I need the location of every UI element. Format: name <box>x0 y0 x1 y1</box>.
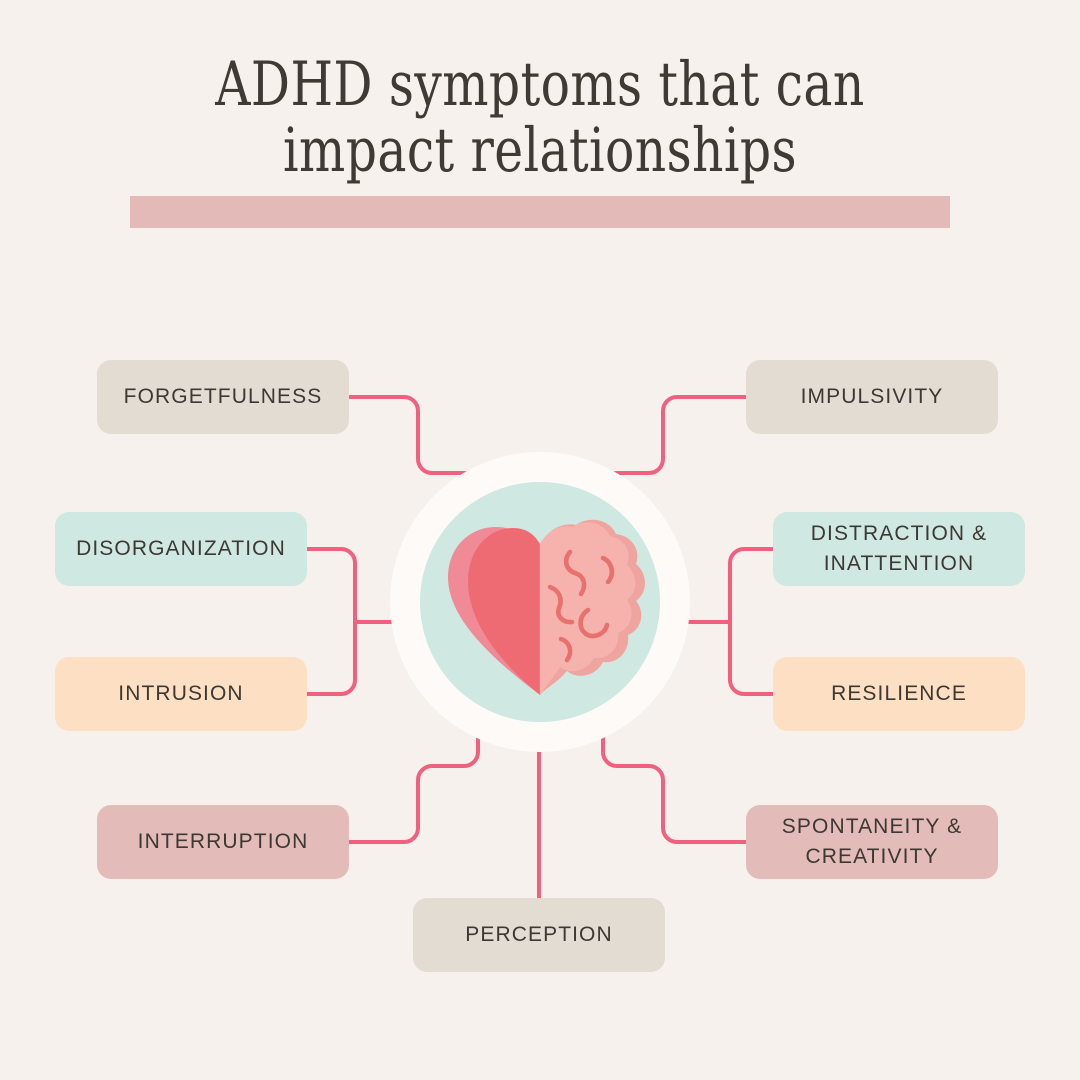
node-distraction-inattention[interactable]: DISTRACTION & INATTENTION <box>773 512 1025 586</box>
node-label-impulsivity: IMPULSIVITY <box>801 382 944 412</box>
node-label-disorganization: DISORGANIZATION <box>76 534 286 564</box>
node-label-distraction-inattention: DISTRACTION & INATTENTION <box>811 519 987 579</box>
brain-half <box>540 520 645 695</box>
node-label-spontaneity-creativity: SPONTANEITY & CREATIVITY <box>782 812 962 872</box>
node-label-intrusion: INTRUSION <box>118 679 243 709</box>
node-interruption[interactable]: INTERRUPTION <box>97 805 349 879</box>
node-label-interruption: INTERRUPTION <box>138 827 309 857</box>
connector-intrusion <box>307 622 355 694</box>
heart-body <box>468 528 540 695</box>
node-intrusion[interactable]: INTRUSION <box>55 657 307 731</box>
node-label-perception: PERCEPTION <box>465 920 613 950</box>
node-disorganization[interactable]: DISORGANIZATION <box>55 512 307 586</box>
infographic-canvas: ADHD symptoms that can impact relationsh… <box>0 0 1080 1080</box>
node-perception[interactable]: PERCEPTION <box>413 898 665 972</box>
node-resilience[interactable]: RESILIENCE <box>773 657 1025 731</box>
node-forgetfulness[interactable]: FORGETFULNESS <box>97 360 349 434</box>
node-label-resilience: RESILIENCE <box>831 679 967 709</box>
heart-brain-icon <box>420 482 660 722</box>
connector-resilience <box>730 622 773 694</box>
connector-distraction <box>730 549 773 622</box>
node-spontaneity-creativity[interactable]: SPONTANEITY & CREATIVITY <box>746 805 998 879</box>
node-impulsivity[interactable]: IMPULSIVITY <box>746 360 998 434</box>
node-label-forgetfulness: FORGETFULNESS <box>124 382 323 412</box>
connector-disorganization <box>307 549 355 622</box>
center-emblem <box>390 452 690 752</box>
heart-half <box>448 527 540 695</box>
